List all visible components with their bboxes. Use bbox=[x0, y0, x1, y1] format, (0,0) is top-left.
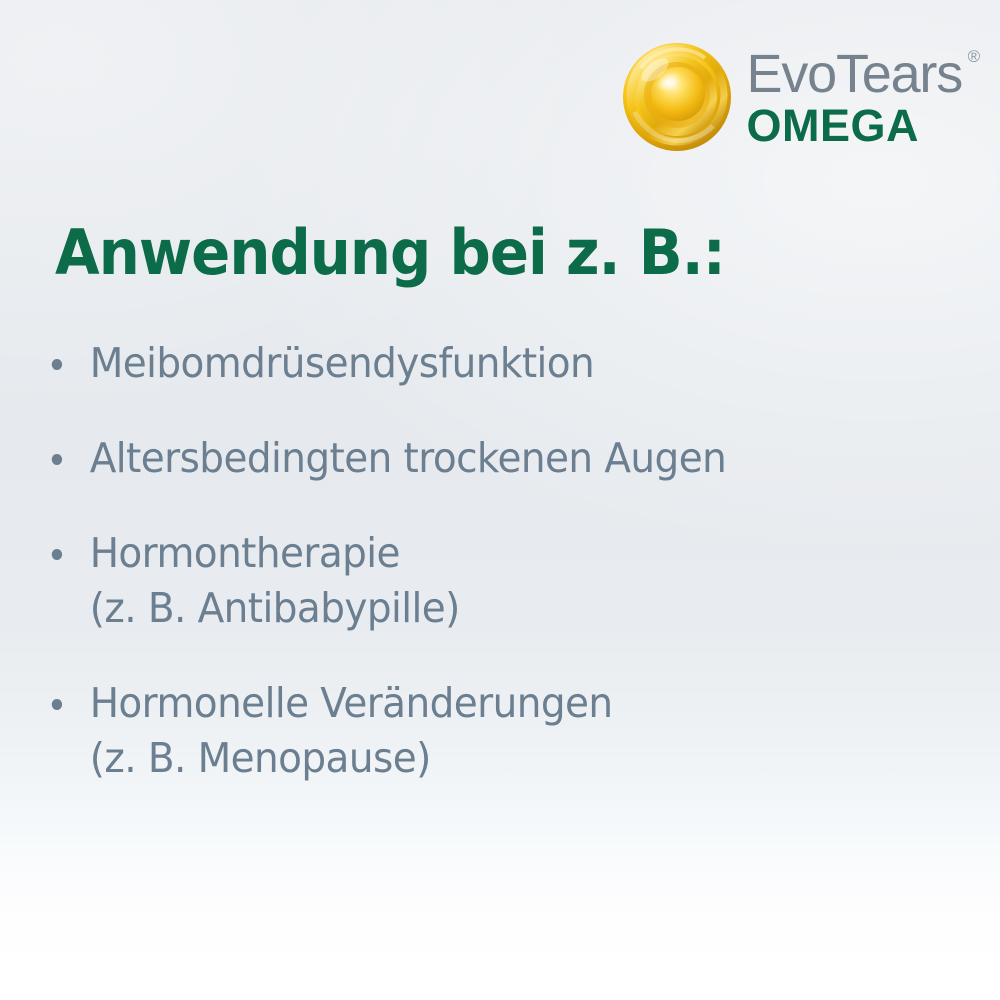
brand-wordmark-text: EvoTears bbox=[747, 44, 963, 104]
list-item-line: Hormontherapie bbox=[90, 526, 901, 581]
list-item: Hormonelle Veränderungen (z. B. Menopaus… bbox=[46, 676, 901, 786]
bullet-icon bbox=[52, 454, 62, 465]
golden-oil-drop-icon bbox=[621, 40, 733, 152]
registered-trademark-icon: ® bbox=[968, 48, 979, 65]
product-line-label: OMEGA bbox=[747, 103, 963, 149]
list-item-line: Hormonelle Veränderungen bbox=[90, 676, 901, 731]
bullet-icon bbox=[52, 549, 62, 560]
brand-wordmark: EvoTears® bbox=[747, 46, 963, 102]
list-item-line: Meibomdrüsendysfunktion bbox=[90, 336, 901, 391]
list-item-line: (z. B. Antibabypille) bbox=[90, 581, 901, 636]
list-item: Meibomdrüsendysfunktion bbox=[46, 336, 901, 391]
list-item-line: (z. B. Menopause) bbox=[90, 731, 901, 786]
bullet-icon bbox=[52, 699, 62, 710]
list-item: Altersbedingten trockenen Augen bbox=[46, 431, 901, 486]
list-item-line: Altersbedingten trockenen Augen bbox=[90, 431, 901, 486]
brand-wordmark-block: EvoTears® OMEGA bbox=[747, 44, 963, 149]
page-title: Anwendung bei z. B.: bbox=[55, 218, 725, 288]
brand-logo: EvoTears® OMEGA bbox=[621, 40, 963, 152]
indications-list: Meibomdrüsendysfunktion Altersbedingten … bbox=[46, 336, 946, 786]
list-item: Hormontherapie (z. B. Antibabypille) bbox=[46, 526, 901, 636]
bullet-icon bbox=[52, 359, 62, 370]
